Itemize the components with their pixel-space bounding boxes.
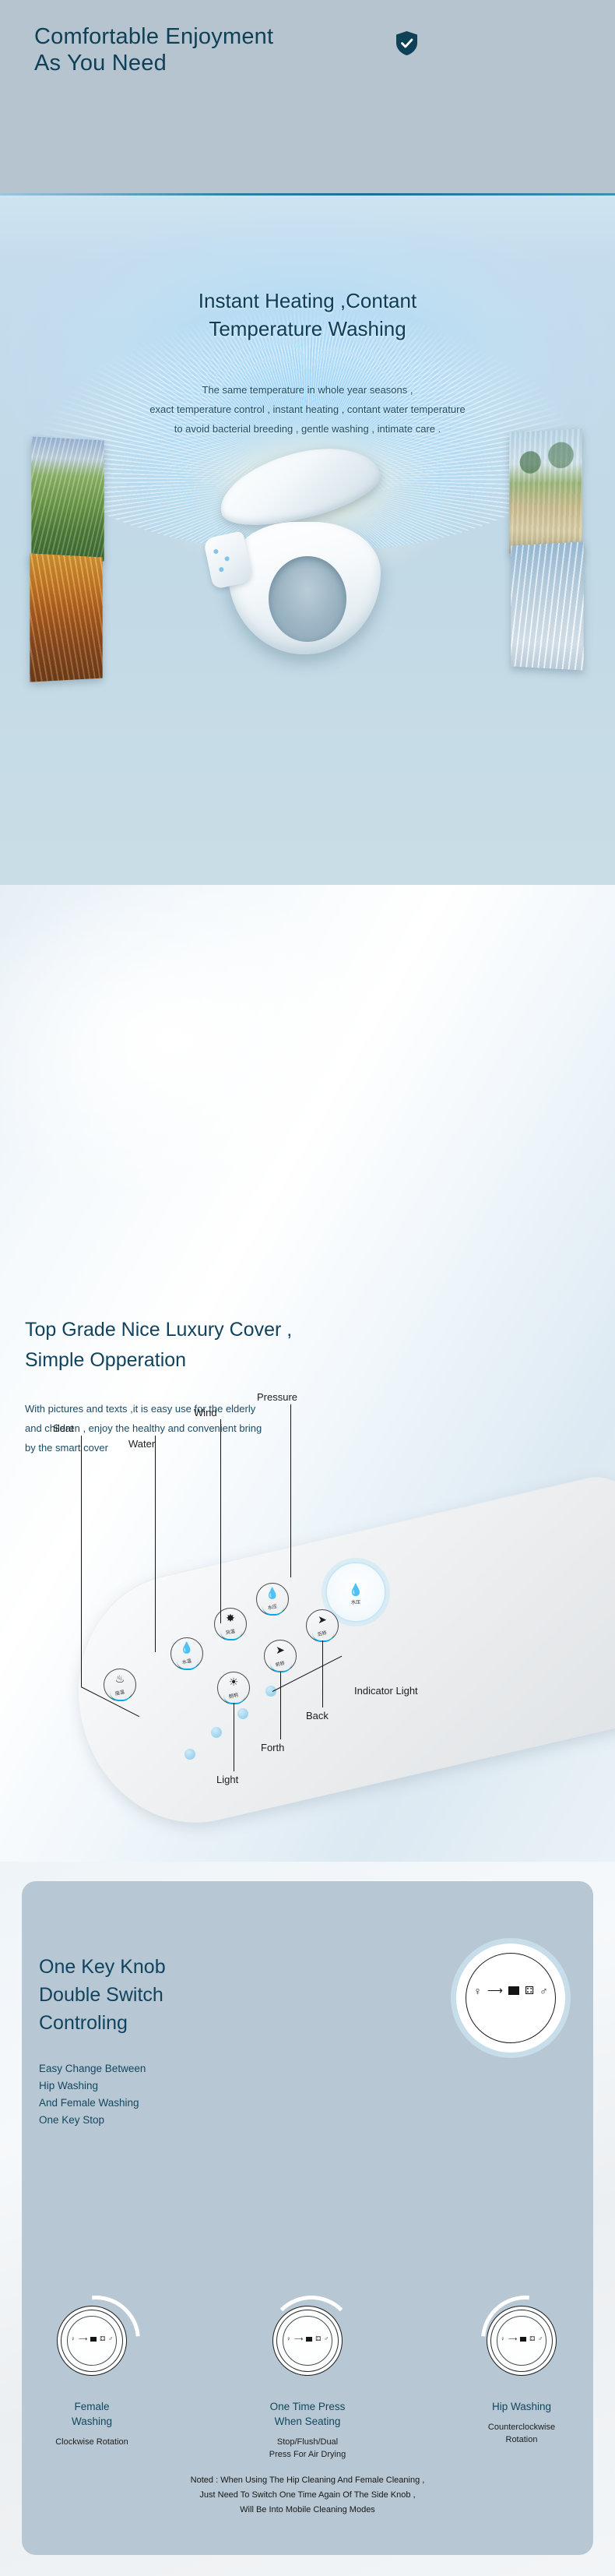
one-time-press-subcaption: Stop/Flush/Dual Press For Air Drying — [237, 2436, 378, 2461]
seat-opening — [269, 556, 346, 642]
mode-icon-row: ♀⟶⚃♂ — [57, 2335, 127, 2342]
leader-line-back — [322, 1640, 323, 1707]
hip-washing-subcaption: Counterclockwise Rotation — [452, 2421, 592, 2446]
spray-icon: ⟶ — [487, 1984, 503, 1997]
summer-beach-photo — [509, 428, 582, 557]
top-grade-cover-section: Top Grade Nice Luxury Cover , Simple Opp… — [0, 885, 615, 1862]
seat-bowl — [228, 522, 381, 654]
water-drop-icon: 💧 — [327, 1583, 385, 1597]
water-button[interactable]: 💧 水温 — [170, 1637, 203, 1670]
hip-washing-mode: ♀⟶⚃♂ — [487, 2306, 557, 2376]
winter-snow-photo — [511, 541, 583, 670]
fan-icon: ✸ — [215, 1612, 246, 1623]
hip-washing-caption: Hip Washing — [455, 2399, 588, 2414]
one-time-press-caption: One Time Press When Seating — [241, 2399, 374, 2429]
stop-icon — [508, 1986, 519, 1995]
autumn-forest-photo — [30, 553, 102, 682]
leader-line-pressure — [290, 1404, 291, 1577]
callout-pressure: Pressure — [257, 1391, 297, 1403]
shield-check-icon — [396, 31, 417, 55]
callout-wind: Wind — [194, 1407, 217, 1418]
mode-icon-row: ♀⟶⚃♂ — [487, 2335, 557, 2342]
callout-water: Water — [128, 1438, 155, 1450]
back-arrow-icon: ➤ — [307, 1614, 338, 1625]
female-washing-caption: Female Washing — [26, 2399, 158, 2429]
one-time-press-mode: ♀⟶⚃♂ — [272, 2306, 343, 2376]
top-grade-title: Top Grade Nice Luxury Cover , Simple Opp… — [25, 1315, 292, 1376]
leader-line-forth — [280, 1672, 281, 1739]
callout-light: Light — [216, 1774, 238, 1785]
heating-title: Instant Heating ,Contant Temperature Was… — [0, 287, 615, 343]
water-pressure-icon: 💧 — [257, 1588, 288, 1598]
indicator-led-3 — [211, 1727, 222, 1738]
pressure-button[interactable]: 💧 水压 — [256, 1583, 289, 1616]
seat-warm-icon: ♨ — [104, 1673, 135, 1684]
leader-line-light — [234, 1703, 234, 1771]
dry-icon: ⚃ — [525, 1984, 534, 1997]
knob-outline — [466, 1953, 556, 2043]
callout-seat: Seat — [53, 1422, 74, 1434]
product-detail-page: Comfortable Enjoyment As You Need Instan… — [0, 0, 615, 2576]
seat-button[interactable]: ♨ 座温 — [104, 1669, 136, 1701]
heating-subtitle: The same temperature in whole year seaso… — [0, 380, 615, 439]
callout-back: Back — [306, 1710, 329, 1721]
light-button[interactable]: ☀ 照明 — [217, 1672, 250, 1704]
spring-terraces-photo — [31, 436, 104, 565]
one-key-knob-section: One Key Knob Double Switch Controling Ea… — [0, 1862, 615, 2576]
one-key-body: Easy Change Between Hip Washing And Fema… — [39, 2060, 146, 2129]
wind-button[interactable]: ✸ 风温 — [214, 1608, 247, 1640]
page-title: Comfortable Enjoyment As You Need — [34, 23, 273, 76]
noted-text: Noted : When Using The Hip Cleaning And … — [22, 2473, 593, 2518]
callout-indicator-light: Indicator Light — [354, 1685, 418, 1697]
one-key-knob-graphic: ♀ ⟶ ⚃ ♂ — [456, 1943, 565, 2053]
light-icon: ☀ — [218, 1676, 249, 1687]
leader-line-wind — [220, 1419, 221, 1623]
indicator-led-1 — [265, 1686, 276, 1697]
smart-toilet-seat-illustration — [206, 450, 409, 676]
one-key-title: One Key Knob Double Switch Controling — [39, 1953, 166, 2037]
leader-line-water — [155, 1436, 156, 1652]
back-button[interactable]: ➤ 后移 — [306, 1609, 339, 1642]
one-key-knob-card: One Key Knob Double Switch Controling Ea… — [22, 1881, 593, 2555]
instant-heating-section: Instant Heating ,Contant Temperature Was… — [0, 193, 615, 885]
pressure-knob-cn-label: 水压 — [327, 1598, 385, 1605]
hip-wash-icon: ♂ — [539, 1985, 548, 1997]
callout-forth: Forth — [261, 1742, 284, 1753]
forth-button[interactable]: ➤ 前移 — [264, 1640, 297, 1672]
hero-header: Comfortable Enjoyment As You Need — [0, 0, 615, 193]
mode-icon-row: ♀⟶⚃♂ — [272, 2335, 343, 2342]
leader-line-seat — [81, 1436, 82, 1686]
control-panel-surface — [54, 1468, 615, 1845]
female-wash-icon: ♀ — [473, 1985, 482, 1997]
female-washing-subcaption: Clockwise Rotation — [22, 2436, 162, 2448]
indicator-led-4 — [184, 1749, 195, 1760]
forth-arrow-icon: ➤ — [265, 1644, 296, 1655]
female-washing-mode: ♀⟶⚃♂ — [57, 2306, 127, 2376]
water-temperature-icon: 💧 — [171, 1642, 202, 1653]
knob-mode-icons: ♀ ⟶ ⚃ ♂ — [456, 1984, 565, 1997]
indicator-led-2 — [237, 1708, 248, 1719]
